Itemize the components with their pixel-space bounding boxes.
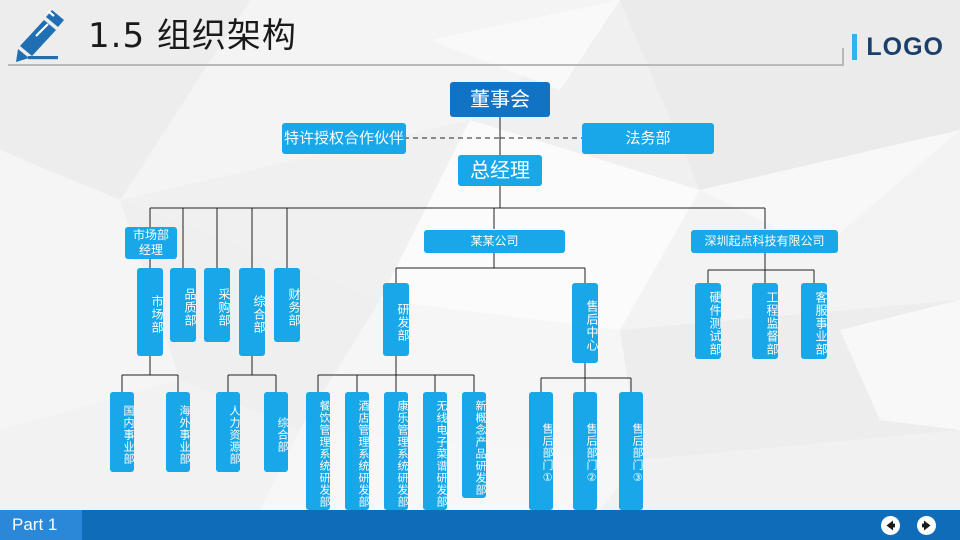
node-rnd-hotel-system[interactable]: 酒店管理系统研发部 xyxy=(345,392,369,510)
node-label: 康乐管理系统研发部 xyxy=(396,400,408,508)
node-label: 国内事业部 xyxy=(122,405,134,465)
node-label: 人力资源部 xyxy=(228,405,240,465)
node-label: 新概念产品研发部 xyxy=(474,400,486,496)
node-marketing-manager[interactable]: 市场部 经理 xyxy=(125,227,177,259)
node-label: 法务部 xyxy=(625,130,670,147)
node-purchasing-dept[interactable]: 采购部 xyxy=(204,268,230,342)
node-legal-dept[interactable]: 法务部 xyxy=(582,123,714,154)
node-label: 售后部门① xyxy=(541,423,553,485)
node-label: 无线电子菜谱研发部 xyxy=(435,400,447,508)
node-rnd-new-concept[interactable]: 新概念产品研发部 xyxy=(462,392,486,498)
node-rnd-catering-system[interactable]: 餐饮管理系统研发部 xyxy=(306,392,330,510)
node-label: 研发部 xyxy=(396,303,409,342)
node-label: 工程监督部 xyxy=(765,291,778,356)
node-label: 客服事业部 xyxy=(814,291,827,356)
node-hr-dept[interactable]: 人力资源部 xyxy=(216,392,240,472)
node-customer-service-division[interactable]: 客服事业部 xyxy=(801,283,827,359)
node-label: 综合部 xyxy=(252,295,265,334)
node-label: 采购部 xyxy=(217,288,230,327)
node-label: 董事会 xyxy=(470,88,530,110)
node-label: 综合部 xyxy=(276,417,288,453)
next-slide-button[interactable] xyxy=(917,516,936,535)
node-label: 硬件测试部 xyxy=(708,291,721,356)
node-engineering-supervision-dept[interactable]: 工程监督部 xyxy=(752,283,778,359)
node-after-sales-dept-2[interactable]: 售后部门② xyxy=(573,392,597,510)
node-domestic-division[interactable]: 国内事业部 xyxy=(110,392,134,472)
node-label: 某某公司 xyxy=(470,235,518,248)
node-label: 酒店管理系统研发部 xyxy=(357,400,369,508)
node-quality-dept[interactable]: 品质部 xyxy=(170,268,196,342)
node-label: 深圳起点科技有限公司 xyxy=(704,235,824,248)
node-company-b[interactable]: 深圳起点科技有限公司 xyxy=(691,230,838,253)
node-label: 市场部 经理 xyxy=(133,228,169,258)
node-general-affairs-dept-2[interactable]: 综合部 xyxy=(264,392,288,472)
node-finance-dept[interactable]: 财务部 xyxy=(274,268,300,342)
node-label: 市场部 xyxy=(150,295,163,334)
node-label: 售后部门② xyxy=(585,423,597,485)
node-hardware-test-dept[interactable]: 硬件测试部 xyxy=(695,283,721,359)
logo-text: LOGO xyxy=(866,34,944,60)
node-label: 品质部 xyxy=(183,288,196,327)
node-rnd-wireless-menu[interactable]: 无线电子菜谱研发部 xyxy=(423,392,447,510)
node-franchise-partner[interactable]: 特许授权合作伙伴 xyxy=(282,123,406,154)
node-board[interactable]: 董事会 xyxy=(450,82,550,117)
org-chart: 董事会 特许授权合作伙伴 法务部 总经理 市场部 经理 某某公司 深圳起点科技有… xyxy=(0,0,960,540)
node-label: 餐饮管理系统研发部 xyxy=(318,400,330,508)
node-label: 售后中心 xyxy=(585,300,598,352)
slide-header: 1.5 组织架构 LOGO xyxy=(0,0,960,70)
prev-slide-button[interactable] xyxy=(881,516,900,535)
node-after-sales-center[interactable]: 售后中心 xyxy=(572,283,598,363)
arrow-right-icon xyxy=(920,519,933,532)
node-rnd-leisure-system[interactable]: 康乐管理系统研发部 xyxy=(384,392,408,510)
node-label: 特许授权合作伙伴 xyxy=(284,130,404,147)
node-general-manager[interactable]: 总经理 xyxy=(458,155,542,186)
arrow-left-icon xyxy=(884,519,897,532)
header-divider xyxy=(8,64,844,66)
logo: LOGO xyxy=(852,30,944,64)
part-badge: Part 1 xyxy=(0,510,82,540)
node-overseas-division[interactable]: 海外事业部 xyxy=(166,392,190,472)
slide-canvas: 1.5 组织架构 LOGO xyxy=(0,0,960,540)
node-marketing-dept[interactable]: 市场部 xyxy=(137,268,163,356)
node-after-sales-dept-1[interactable]: 售后部门① xyxy=(529,392,553,510)
pencil-icon xyxy=(12,8,74,66)
node-label: 总经理 xyxy=(470,159,530,181)
node-company-a[interactable]: 某某公司 xyxy=(424,230,565,253)
node-after-sales-dept-3[interactable]: 售后部门③ xyxy=(619,392,643,510)
node-label: 售后部门③ xyxy=(631,423,643,485)
node-general-affairs-dept[interactable]: 综合部 xyxy=(239,268,265,356)
page-title: 1.5 组织架构 xyxy=(88,8,297,64)
logo-accent-bar xyxy=(852,34,857,60)
node-label: 海外事业部 xyxy=(178,405,190,465)
node-label: 财务部 xyxy=(287,288,300,327)
part-label: Part 1 xyxy=(0,510,82,540)
node-rnd-dept[interactable]: 研发部 xyxy=(383,283,409,356)
slide-footer: Part 1 xyxy=(0,510,960,540)
